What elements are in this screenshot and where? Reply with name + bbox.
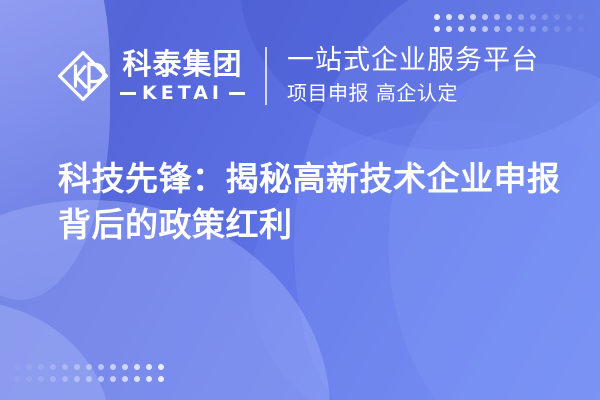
- decorative-dot: [458, 14, 464, 20]
- decorative-dot: [134, 364, 140, 370]
- ketai-diamond-kp-monogram-icon: [56, 49, 110, 103]
- decorative-dot: [146, 376, 152, 382]
- slogan-primary: 一站式企业服务平台: [287, 46, 539, 76]
- decorative-dot: [38, 376, 44, 382]
- brand-logo[interactable]: 科泰集团 KETAI: [56, 49, 245, 103]
- decorative-dot: [98, 364, 104, 370]
- decorative-dot: [62, 364, 68, 370]
- decorative-dot: [566, 14, 572, 20]
- dot-row: [14, 376, 164, 382]
- decorative-dot: [26, 364, 32, 370]
- decorative-dot: [146, 364, 152, 370]
- logo-rule-right: [229, 92, 245, 95]
- logo-rule-left: [120, 92, 136, 95]
- decorative-dot: [134, 376, 140, 382]
- decorative-dot: [74, 364, 80, 370]
- decorative-dot: [446, 14, 452, 20]
- decorative-dot: [110, 364, 116, 370]
- decorative-dot: [38, 364, 44, 370]
- decorative-dot: [506, 14, 512, 20]
- decorative-dot: [494, 26, 500, 32]
- decorative-dot: [494, 14, 500, 20]
- decorative-dot: [434, 14, 440, 20]
- decorative-dot: [98, 376, 104, 382]
- decorative-dot: [158, 376, 164, 382]
- slogan-block: 一站式企业服务平台 项目申报 高企认定: [287, 46, 539, 105]
- decorative-dot: [530, 14, 536, 20]
- decorative-dot: [518, 26, 524, 32]
- decorative-dot: [506, 26, 512, 32]
- brand-logo-text: 科泰集团 KETAI: [120, 50, 245, 103]
- decorative-dot: [122, 376, 128, 382]
- dot-row: [434, 26, 584, 32]
- decorative-dot: [578, 26, 584, 32]
- slogan-secondary: 项目申报 高企认定: [287, 81, 539, 106]
- dot-row: [434, 14, 584, 20]
- promo-banner: 科泰集团 KETAI 一站式企业服务平台 项目申报 高企认定 科技先锋：揭秘高新…: [0, 0, 600, 400]
- decorative-dot: [74, 376, 80, 382]
- decorative-dot: [434, 26, 440, 32]
- dot-row: [14, 364, 164, 370]
- decorative-dot: [14, 364, 20, 370]
- dot-grid-top-right: [434, 14, 584, 32]
- decorative-dot: [530, 26, 536, 32]
- decorative-dot: [50, 364, 56, 370]
- decorative-dot: [158, 364, 164, 370]
- decorative-dot: [542, 14, 548, 20]
- decorative-dot: [446, 26, 452, 32]
- brand-name-en: KETAI: [142, 84, 223, 103]
- decorative-dot: [458, 26, 464, 32]
- decorative-dot: [50, 376, 56, 382]
- page-title: 科技先锋：揭秘高新技术企业申报 背后的政策红利: [58, 156, 558, 248]
- banner-header: 科泰集团 KETAI 一站式企业服务平台 项目申报 高企认定: [0, 38, 600, 114]
- decorative-dot: [122, 364, 128, 370]
- decorative-dot: [542, 26, 548, 32]
- header-vertical-divider: [265, 47, 267, 105]
- brand-name-en-row: KETAI: [120, 84, 245, 103]
- decorative-dot: [518, 14, 524, 20]
- brand-name-cn: 科泰集团: [122, 50, 242, 79]
- decorative-dot: [14, 376, 20, 382]
- decorative-dot: [578, 14, 584, 20]
- decorative-dot: [482, 14, 488, 20]
- decorative-dot: [554, 26, 560, 32]
- page-title-line-2: 背后的政策红利: [58, 202, 558, 248]
- dot-grid-bottom-left: [14, 364, 164, 382]
- decorative-dot: [470, 14, 476, 20]
- decorative-dot: [482, 26, 488, 32]
- decorative-dot: [62, 376, 68, 382]
- decorative-dot: [26, 376, 32, 382]
- decorative-dot: [86, 376, 92, 382]
- decorative-dot: [110, 376, 116, 382]
- decorative-dot: [554, 14, 560, 20]
- decorative-dot: [86, 364, 92, 370]
- decorative-dot: [470, 26, 476, 32]
- page-title-line-1: 科技先锋：揭秘高新技术企业申报: [58, 156, 558, 202]
- decorative-dot: [566, 26, 572, 32]
